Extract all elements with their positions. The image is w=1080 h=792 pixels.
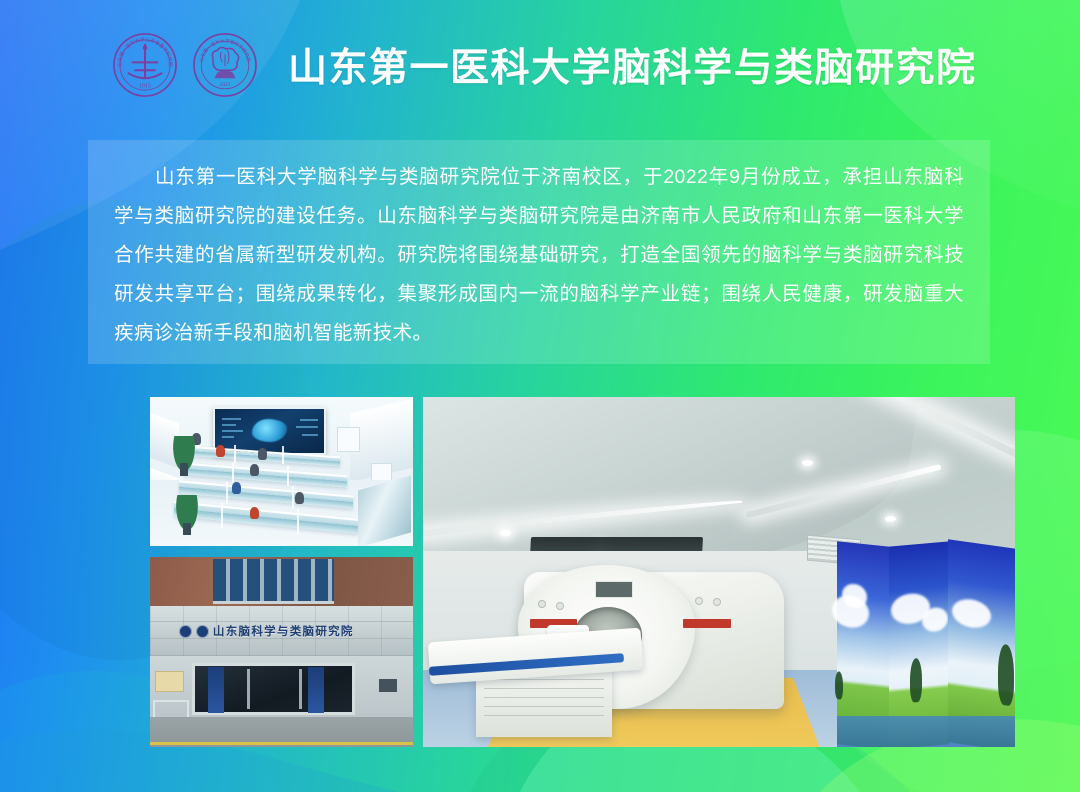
photo-institute-entrance[interactable]: 山东脑科学与类脑研究院	[150, 557, 413, 747]
page-title: 山东第一医科大学脑科学与类脑研究院	[288, 37, 977, 93]
wall-plaque	[379, 679, 397, 692]
svg-text:2023: 2023	[220, 82, 231, 88]
notice-board	[155, 671, 184, 692]
mri-status-display	[595, 581, 633, 599]
building-signage-text: 山东脑科学与类脑研究院	[213, 623, 354, 639]
poster-root: 1915 山东第一医科大学山东省医学科学院 2023 山东第一医科大学脑科学研究…	[0, 0, 1080, 792]
intro-text-panel: 山东第一医科大学脑科学与类脑研究院位于济南校区，于2022年9月份成立，承担山东…	[88, 140, 990, 364]
warning-label-right	[683, 619, 730, 627]
open-plan-office-scene	[150, 397, 413, 546]
building-signage: 山东脑科学与类脑研究院	[179, 620, 384, 643]
intro-paragraph: 山东第一医科大学脑科学与类脑研究院位于济南校区，于2022年9月份成立，承担山东…	[114, 158, 964, 353]
photo-mri-scanner-suite[interactable]	[423, 397, 1015, 747]
brain-institute-emblem-logo: 2023 山东第一医科大学脑科学研究院	[192, 32, 258, 98]
guard-rail	[153, 700, 190, 717]
svg-text:1915: 1915	[139, 83, 151, 89]
entrance-banner-left	[208, 667, 224, 713]
mri-suite-scene	[423, 397, 1015, 747]
entrance-banner-right	[308, 667, 324, 713]
poster-header: 1915 山东第一医科大学山东省医学科学院 2023 山东第一医科大学脑科学研究…	[0, 0, 1080, 130]
university-emblem-logo: 1915 山东第一医科大学山东省医学科学院	[112, 32, 178, 98]
signage-emblem-1-icon	[179, 625, 192, 638]
signage-emblem-2-icon	[196, 625, 209, 638]
entrance-facade-scene: 山东脑科学与类脑研究院	[150, 557, 413, 747]
photo-open-plan-research-office[interactable]	[150, 397, 413, 546]
